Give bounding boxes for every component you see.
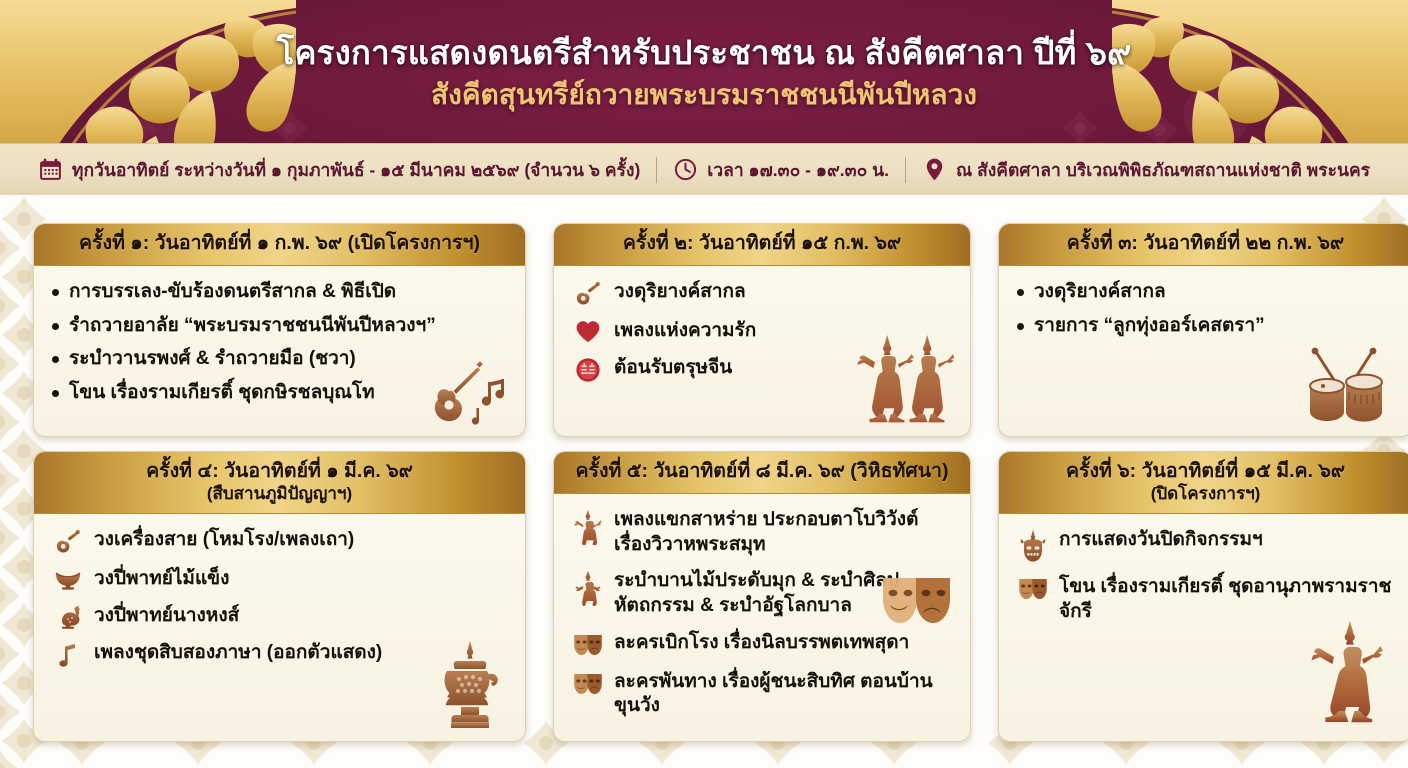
card-1-body: การบรรเลง-ขับร้องดนตรีสากล & พิธีเปิด รำ… [34, 266, 525, 436]
bullet-dot-icon [52, 289, 59, 296]
bullet-dot-icon [52, 323, 59, 330]
list-item-label: รำถวายอาลัย “พระบรมราชชนนีพันปีหลวงฯ” [69, 314, 509, 339]
list-item: รำถวายอาลัย “พระบรมราชชนนีพันปีหลวงฯ” [52, 314, 509, 339]
theater-masks-icon [1017, 576, 1049, 602]
schedule-card-2[interactable]: ครั้งที่ ๒: วันอาทิตย์ที่ ๑๕ ก.พ. ๖๙ [553, 223, 971, 437]
music-note-icon [52, 642, 84, 668]
map-pin-icon [922, 157, 947, 182]
card-4-list: วงเครื่องสาย (โหมโรง/เพลงเถา) [52, 528, 509, 680]
header-banner: โครงการแสดงดนตรีสำหรับประชาชน ณ สังคีตศา… [0, 0, 1408, 195]
card-3-body: วงดุริยางค์สากล รายการ “ลูกทุ่งออร์เคสตร… [999, 266, 1408, 436]
card-6-header: ครั้งที่ ๖: วันอาทิตย์ที่ ๑๕ มี.ค. ๖๙ (ป… [999, 452, 1408, 514]
schedule-card-5[interactable]: ครั้งที่ ๕: วันอาทิตย์ที่ ๘ มี.ค. ๖๙ (วิ… [553, 451, 971, 742]
card-5-list: เพลงแขกสาหร่าย ประกอบตาโบวิวังต์ เรื่องว… [572, 508, 954, 731]
list-item-label: ละครพันทาง เรื่องผู้ชนะสิบทิศ ตอนบ้านขุน… [614, 670, 954, 719]
card-5-header: ครั้งที่ ๕: วันอาทิตย์ที่ ๘ มี.ค. ๖๙ (วิ… [554, 452, 970, 494]
list-item: วงดุริยางค์สากล [572, 280, 954, 307]
list-item-label: วงดุริยางค์สากล [1034, 280, 1396, 305]
bongo-drums-icon [1296, 346, 1392, 426]
poster-root: โครงการแสดงดนตรีสำหรับประชาชน ณ สังคีตศา… [0, 0, 1408, 768]
card-4-body: วงเครื่องสาย (โหมโรง/เพลงเถา) [34, 514, 525, 741]
list-item-label: เพลงแห่งความรัก [614, 319, 954, 344]
dancer-icon [572, 509, 604, 545]
guitar-icon [572, 281, 604, 307]
list-item: วงปี่พาทย์ไม้แข็ง [52, 567, 509, 592]
card-3-header: ครั้งที่ ๓: วันอาทิตย์ที่ ๒๒ ก.พ. ๖๙ [999, 224, 1408, 266]
schedule-card-4[interactable]: ครั้งที่ ๔: วันอาทิตย์ที่ ๑ มี.ค. ๖๙ (สื… [33, 451, 526, 742]
card-6-body: การแสดงวันปิดกิจกรรมฯ [999, 514, 1408, 741]
theater-masks-icon [572, 671, 604, 697]
card-4-title: ครั้งที่ ๔: วันอาทิตย์ที่ ๑ มี.ค. ๖๙ [44, 459, 515, 484]
info-divider-2 [905, 157, 906, 183]
list-item-label: ระบำวานรพงศ์ & รำถวายมือ (ชวา) [69, 347, 509, 372]
list-item: ต้อนรับตรุษจีน [572, 356, 954, 383]
list-item: เพลงชุดสิบสองภาษา (ออกตัวแสดง) [52, 641, 509, 668]
info-divider-1 [656, 157, 657, 183]
list-item-label: การบรรเลง-ขับร้องดนตรีสากล & พิธีเปิด [69, 280, 509, 305]
guitar-icon [52, 529, 84, 555]
list-item: ละครเบิกโรง เรื่องนิลบรรพตเทพสุดา [572, 631, 954, 658]
schedule-grid: ครั้งที่ ๑: วันอาทิตย์ที่ ๑ ก.พ. ๖๙ (เปิ… [0, 195, 1408, 742]
card-2-header: ครั้งที่ ๒: วันอาทิตย์ที่ ๑๕ ก.พ. ๖๙ [554, 224, 970, 266]
list-item-label: โขน เรื่องรามเกียรติ์ ชุดอานุภาพรามราชจั… [1059, 575, 1396, 624]
list-item: ระบำบานไม้ประดับมุก & ระบำศิลปหัตถกรรม &… [572, 569, 954, 618]
info-date: ทุกวันอาทิตย์ ระหว่างวันที่ ๑ กุมภาพันธ์… [38, 156, 640, 184]
bullet-dot-icon [1017, 323, 1024, 330]
thai-gong-bowl-icon [52, 568, 84, 590]
card-2-body: วงดุริยางค์สากล เพลงแห่งความรัก [554, 266, 970, 436]
theater-masks-icon [572, 632, 604, 658]
card-1-header: ครั้งที่ ๑: วันอาทิตย์ที่ ๑ ก.พ. ๖๙ (เปิ… [34, 224, 525, 266]
page-title: โครงการแสดงดนตรีสำหรับประชาชน ณ สังคีตศา… [276, 32, 1131, 73]
schedule-card-6[interactable]: ครั้งที่ ๖: วันอาทิตย์ที่ ๑๕ มี.ค. ๖๙ (ป… [998, 451, 1408, 742]
bullet-dot-icon [1017, 289, 1024, 296]
card-1-list: การบรรเลง-ขับร้องดนตรีสากล & พิธีเปิด รำ… [52, 280, 509, 415]
list-item-label: รายการ “ลูกทุ่งออร์เคสตรา” [1034, 314, 1396, 339]
list-item-label: โขน เรื่องรามเกียรติ์ ชุดกษิรชลบุณโท [69, 381, 509, 406]
schedule-card-1[interactable]: ครั้งที่ ๑: วันอาทิตย์ที่ ๑ ก.พ. ๖๙ (เปิ… [33, 223, 526, 437]
card-5-title: ครั้งที่ ๕: วันอาทิตย์ที่ ๘ มี.ค. ๖๙ (วิ… [564, 459, 960, 484]
list-item: โขน เรื่องรามเกียรติ์ ชุดอานุภาพรามราชจั… [1017, 575, 1396, 624]
card-3-title: ครั้งที่ ๓: วันอาทิตย์ที่ ๒๒ ก.พ. ๖๙ [1009, 231, 1402, 256]
main-content: ครั้งที่ ๑: วันอาทิตย์ที่ ๑ ก.พ. ๖๙ (เปิ… [0, 195, 1408, 768]
event-info-bar: ทุกวันอาทิตย์ ระหว่างวันที่ ๑ กุมภาพันธ์… [0, 143, 1408, 195]
chinese-seal-icon [572, 357, 604, 383]
list-item-label: เพลงชุดสิบสองภาษา (ออกตัวแสดง) [94, 641, 509, 666]
list-item: วงดุริยางค์สากล [1017, 280, 1396, 305]
info-place: ณ สังคีตศาลา บริเวณพิพิธภัณฑสถานแห่งชาติ… [922, 156, 1370, 184]
list-item: รายการ “ลูกทุ่งออร์เคสตรา” [1017, 314, 1396, 339]
list-item: วงเครื่องสาย (โหมโรง/เพลงเถา) [52, 528, 509, 555]
list-item-label: วงปี่พาทย์ไม้แข็ง [94, 567, 509, 592]
bullet-dot-icon [52, 356, 59, 363]
card-2-list: วงดุริยางค์สากล เพลงแห่งความรัก [572, 280, 954, 395]
list-item-label: ต้อนรับตรุษจีน [614, 356, 954, 381]
swan-instrument-icon [52, 605, 84, 629]
list-item: การบรรเลง-ขับร้องดนตรีสากล & พิธีเปิด [52, 280, 509, 305]
heart-icon [572, 320, 604, 344]
info-date-text: ทุกวันอาทิตย์ ระหว่างวันที่ ๑ กุมภาพันธ์… [72, 156, 640, 184]
dancer-two-icon [572, 570, 604, 606]
info-time: เวลา ๑๗.๓๐ - ๑๙.๓๐ น. [673, 156, 889, 184]
page-subtitle: สังคีตสุนทรีย์ถวายพระบรมราชชนนีพันปีหลวง [431, 77, 977, 113]
list-item: ระบำวานรพงศ์ & รำถวายมือ (ชวา) [52, 347, 509, 372]
list-item: เพลงแห่งความรัก [572, 319, 954, 344]
list-item: โขน เรื่องรามเกียรติ์ ชุดกษิรชลบุณโท [52, 381, 509, 406]
card-3-list: วงดุริยางค์สากล รายการ “ลูกทุ่งออร์เคสตร… [1017, 280, 1396, 347]
list-item-label: ละครเบิกโรง เรื่องนิลบรรพตเทพสุดา [614, 631, 954, 656]
list-item-label: วงปี่พาทย์นางหงส์ [94, 604, 509, 629]
clock-icon [673, 157, 698, 182]
list-item: เพลงแขกสาหร่าย ประกอบตาโบวิวังต์ เรื่องว… [572, 508, 954, 557]
list-item-label: การแสดงวันปิดกิจกรรมฯ [1059, 528, 1396, 553]
card-6-title: ครั้งที่ ๖: วันอาทิตย์ที่ ๑๕ มี.ค. ๖๙ [1009, 459, 1402, 484]
card-1-title: ครั้งที่ ๑: วันอาทิตย์ที่ ๑ ก.พ. ๖๙ (เปิ… [44, 231, 515, 256]
list-item-label: เพลงแขกสาหร่าย ประกอบตาโบวิวังต์ เรื่องว… [614, 508, 954, 557]
card-2-title: ครั้งที่ ๒: วันอาทิตย์ที่ ๑๕ ก.พ. ๖๙ [564, 231, 960, 256]
list-item: การแสดงวันปิดกิจกรรมฯ [1017, 528, 1396, 563]
list-item-label: วงดุริยางค์สากล [614, 280, 954, 305]
list-item-label: ระบำบานไม้ประดับมุก & ระบำศิลปหัตถกรรม &… [614, 569, 954, 618]
card-5-body: เพลงแขกสาหร่าย ประกอบตาโบวิวังต์ เรื่องว… [554, 494, 970, 741]
card-6-list: การแสดงวันปิดกิจกรรมฯ [1017, 528, 1396, 636]
list-item: ละครพันทาง เรื่องผู้ชนะสิบทิศ ตอนบ้านขุน… [572, 670, 954, 719]
list-item-label: วงเครื่องสาย (โหมโรง/เพลงเถา) [94, 528, 509, 553]
list-item: วงปี่พาทย์นางหงส์ [52, 604, 509, 629]
schedule-card-3[interactable]: ครั้งที่ ๓: วันอาทิตย์ที่ ๒๒ ก.พ. ๖๙ วงด… [998, 223, 1408, 437]
bullet-dot-icon [52, 390, 59, 397]
card-6-subtitle: (ปิดโครงการฯ) [1009, 484, 1402, 504]
info-time-text: เวลา ๑๗.๓๐ - ๑๙.๓๐ น. [707, 156, 889, 184]
card-4-subtitle: (สืบสานภูมิปัญญาฯ) [44, 484, 515, 504]
khon-mask-icon [1017, 529, 1049, 563]
card-4-header: ครั้งที่ ๔: วันอาทิตย์ที่ ๑ มี.ค. ๖๙ (สื… [34, 452, 525, 514]
calendar-icon [38, 157, 63, 182]
info-place-text: ณ สังคีตศาลา บริเวณพิพิธภัณฑสถานแห่งชาติ… [956, 156, 1370, 184]
